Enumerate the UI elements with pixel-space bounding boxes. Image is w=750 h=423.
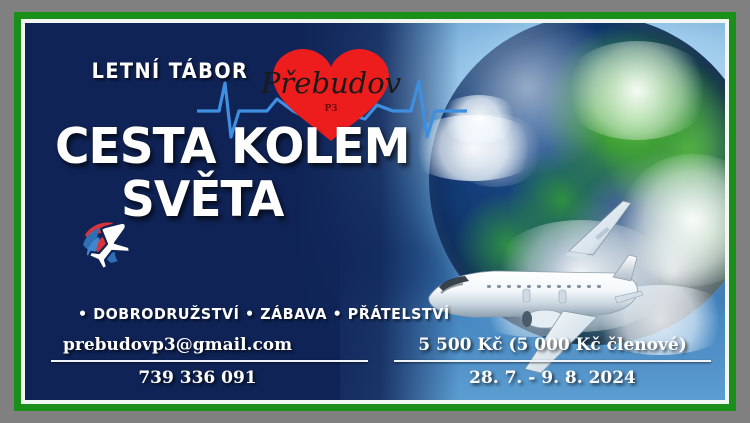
white-border-frame: Přebudov P3 LETNÍ TÁBOR	[21, 19, 729, 404]
dates-text: 28. 7. - 9. 8. 2024	[394, 362, 711, 388]
title-line-1: CESTA KOLEM	[55, 123, 456, 170]
footer-contact-column: prebudovp3@gmail.com 739 336 091	[51, 335, 368, 388]
email-text: prebudovp3@gmail.com	[51, 335, 368, 360]
title-line-2: SVĚTA	[121, 176, 459, 223]
poster-canvas: Přebudov P3 LETNÍ TÁBOR	[25, 23, 725, 400]
price-text: 5 500 Kč (5 000 Kč členové)	[394, 335, 711, 360]
green-border-frame: Přebudov P3 LETNÍ TÁBOR	[14, 12, 736, 411]
kicker-text: LETNÍ TÁBOR	[53, 59, 439, 83]
footer-info: prebudovp3@gmail.com 739 336 091 5 500 K…	[51, 335, 711, 388]
tagline-text: • DOBRODRUŽSTVÍ • ZÁBAVA • PŘÁTELSTVÍ	[78, 305, 450, 323]
phone-text: 739 336 091	[51, 362, 368, 388]
footer-price-column: 5 500 Kč (5 000 Kč členové) 28. 7. - 9. …	[394, 335, 711, 388]
headline-group: LETNÍ TÁBOR CESTA KOLEM SVĚTA	[53, 59, 473, 223]
poster-root: Přebudov P3 LETNÍ TÁBOR	[0, 0, 750, 423]
